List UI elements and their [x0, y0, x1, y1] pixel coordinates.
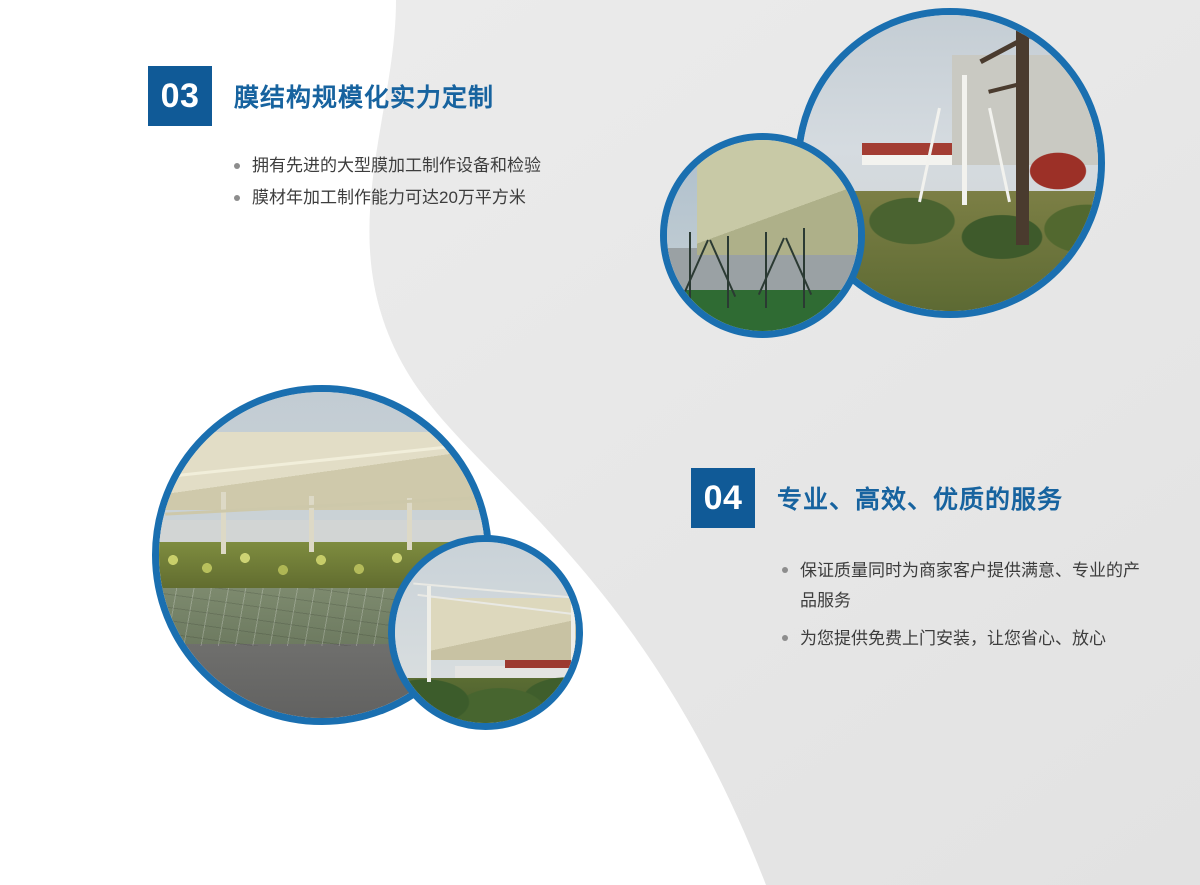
section-04-number-badge: 04	[691, 468, 755, 528]
section-04: 04 专业、高效、优质的服务 保证质量同时为商家客户提供满意、专业的产品服务 为…	[691, 468, 1151, 662]
section-04-bullet-list: 保证质量同时为商家客户提供满意、专业的产品服务 为您提供免费上门安装，让您省心、…	[780, 556, 1151, 654]
photo-image-sports-canopy	[667, 140, 858, 331]
section-04-header: 04 专业、高效、优质的服务	[691, 468, 1151, 528]
section-03: 03 膜结构规模化实力定制 拥有先进的大型膜加工制作设备和检验 膜材年加工制作能…	[148, 66, 588, 216]
photo-tree-branch-a	[979, 39, 1020, 64]
photo-column-1	[221, 492, 226, 554]
photo-tree-branch-b	[1023, 31, 1073, 55]
photo-circle-bottom-small	[388, 535, 583, 730]
photo-stay-cable-left	[918, 108, 941, 203]
list-item: 为您提供免费上门安装，让您省心、放心	[780, 624, 1151, 654]
list-item: 保证质量同时为商家客户提供满意、专业的产品服务	[780, 556, 1151, 616]
slide-canvas: 03 膜结构规模化实力定制 拥有先进的大型膜加工制作设备和检验 膜材年加工制作能…	[0, 0, 1200, 885]
list-item: 拥有先进的大型膜加工制作设备和检验	[232, 152, 588, 180]
photo-stay-cable-right	[988, 108, 1011, 203]
section-03-header: 03 膜结构规模化实力定制	[148, 66, 588, 126]
section-03-number-badge: 03	[148, 66, 212, 126]
photo-frame-brace-2	[709, 240, 736, 297]
photo-frame-post-1	[689, 232, 691, 308]
photo-image-tensile-shade	[395, 542, 576, 723]
list-item: 膜材年加工制作能力可达20万平方米	[232, 184, 588, 212]
photo-frame-brace-4	[785, 238, 812, 295]
photo-frame-post-2	[727, 236, 729, 308]
section-03-title: 膜结构规模化实力定制	[234, 78, 494, 114]
photo-canopy-edge	[165, 495, 492, 515]
photo-frame-post-4	[803, 228, 805, 308]
photo-frame-brace-3	[758, 238, 785, 295]
photo-frame-brace-1	[682, 240, 709, 297]
photo-mast-left	[427, 586, 431, 682]
section-03-bullet-list: 拥有先进的大型膜加工制作设备和检验 膜材年加工制作能力可达20万平方米	[232, 152, 588, 212]
photo-mast-right	[571, 604, 575, 670]
photo-canopy-ridge	[170, 441, 489, 477]
photo-tree-trunk	[1016, 15, 1029, 245]
photo-mast	[962, 75, 967, 205]
photo-frame-post-3	[765, 232, 767, 308]
section-04-title: 专业、高效、优质的服务	[777, 480, 1063, 516]
photo-circle-top-small	[660, 133, 865, 338]
